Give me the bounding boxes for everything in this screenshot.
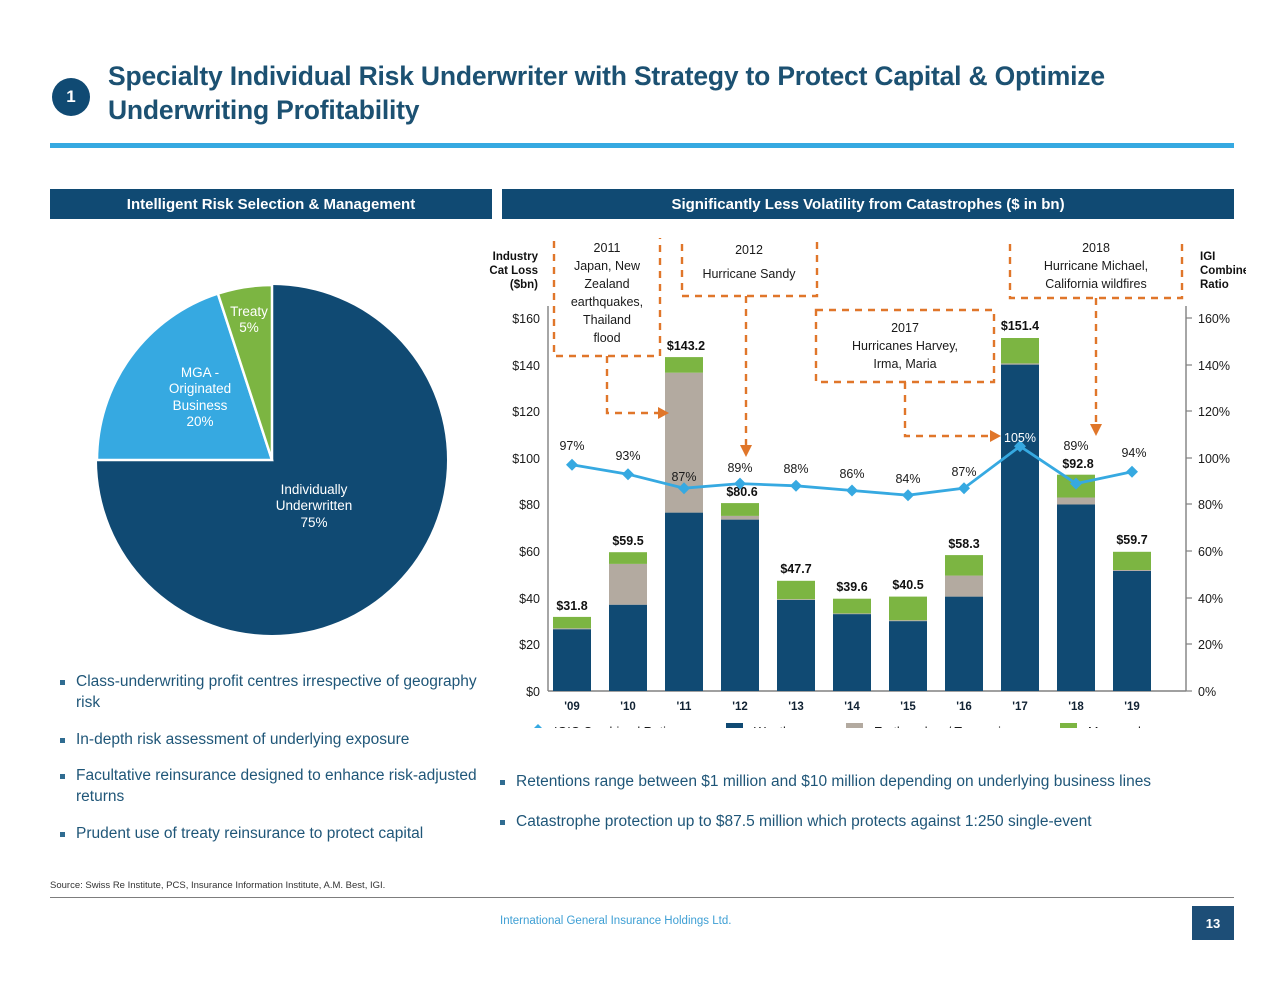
bullet-square-icon	[500, 820, 505, 825]
list-item-text: Class-underwriting profit centres irresp…	[76, 672, 490, 714]
svg-text:Hurricane Michael,: Hurricane Michael,	[1044, 259, 1148, 273]
svg-text:earthquakes,: earthquakes,	[571, 295, 643, 309]
legend-label-earthquakes[interactable]: Earthquakes / Tsunamis	[874, 725, 1007, 728]
bar-segment-earthquake	[945, 576, 983, 597]
svg-text:Irma, Maria: Irma, Maria	[873, 357, 936, 371]
bar-group-12	[721, 503, 759, 691]
y-axis-right-title-line1: IGI	[1200, 251, 1215, 263]
svg-text:80%: 80%	[1198, 498, 1223, 512]
bar-segment-manmade	[1113, 552, 1151, 570]
bar-group-11	[665, 357, 703, 691]
svg-text:0%: 0%	[1198, 685, 1216, 699]
annotation-2017-arrow	[990, 430, 1001, 442]
x-tick-09: '09	[564, 701, 580, 713]
ratio-label-14: 86%	[839, 467, 864, 481]
page-number: 13	[1192, 906, 1234, 940]
svg-text:120%: 120%	[1198, 405, 1230, 419]
page-title: Specialty Individual Risk Underwriter wi…	[108, 60, 1198, 128]
bar-total-label-17: $151.4	[1001, 319, 1039, 333]
bar-total-label-14: $39.6	[836, 580, 867, 594]
svg-text:$140: $140	[512, 359, 540, 373]
svg-text:20%: 20%	[1198, 638, 1223, 652]
bar-segment-earthquake	[1057, 498, 1095, 505]
bar-segment-manmade	[721, 503, 759, 516]
annotation-2012-arrow	[740, 445, 752, 457]
bar-total-label-19: $59.7	[1116, 533, 1147, 547]
bar-segment-weather	[945, 597, 983, 691]
bullet-square-icon	[60, 680, 65, 685]
business-mix-pie-chart: Treaty 5% MGA - Originated Business 20% …	[94, 282, 450, 638]
x-tick-10: '10	[620, 701, 636, 713]
bar-group-15	[889, 597, 927, 691]
bar-total-label-11: $143.2	[667, 339, 705, 353]
bar-segment-earthquake	[553, 628, 591, 629]
x-tick-18: '18	[1068, 701, 1084, 713]
bullet-square-icon	[60, 774, 65, 779]
bullet-square-icon	[60, 738, 65, 743]
svg-text:Hurricane Sandy: Hurricane Sandy	[702, 267, 796, 281]
ratio-label-15: 84%	[895, 472, 920, 486]
svg-text:$20: $20	[519, 638, 540, 652]
x-tick-17: '17	[1012, 701, 1028, 713]
legend-label-manmade[interactable]: Man-made	[1088, 725, 1148, 728]
bar-group-09	[553, 617, 591, 691]
bar-segment-manmade	[777, 581, 815, 599]
svg-text:$60: $60	[519, 545, 540, 559]
annotation-2011-leader	[607, 356, 658, 413]
ratio-label-19: 94%	[1121, 446, 1146, 460]
svg-text:flood: flood	[593, 331, 620, 345]
bar-segment-earthquake	[1001, 363, 1039, 364]
y-axis-right-title-line2: Combined	[1200, 265, 1246, 277]
bar-segment-manmade	[889, 597, 927, 621]
bar-segment-manmade	[553, 617, 591, 628]
y-axis-left-title-line3: ($bn)	[510, 279, 538, 291]
annotation-2017: 2017 Hurricanes Harvey, Irma, Maria	[816, 310, 1001, 442]
list-item: Retentions range between $1 million and …	[500, 772, 1230, 793]
bar-segment-weather	[833, 614, 871, 691]
ratio-label-09: 97%	[559, 439, 584, 453]
svg-text:$160: $160	[512, 312, 540, 326]
legend-swatch-weather[interactable]	[726, 723, 743, 728]
bar-segment-earthquake	[1113, 570, 1151, 571]
bar-total-label-13: $47.7	[780, 562, 811, 576]
bar-group-18	[1057, 475, 1095, 691]
bullet-square-icon	[500, 780, 505, 785]
list-item-text: Facultative reinsurance designed to enha…	[76, 766, 490, 808]
svg-text:$40: $40	[519, 592, 540, 606]
x-tick-11: '11	[677, 701, 692, 713]
section-header-left: Intelligent Risk Selection & Management	[50, 189, 492, 219]
bar-segment-earthquake	[609, 564, 647, 605]
bar-group-13	[777, 581, 815, 691]
svg-text:$0: $0	[526, 685, 540, 699]
bar-group-14	[833, 599, 871, 691]
svg-text:Zealand: Zealand	[584, 277, 629, 291]
y-axis-right-ticks: 160% 140% 120% 100% 80% 60% 40% 20% 0%	[1186, 312, 1230, 699]
svg-text:$100: $100	[512, 452, 540, 466]
bar-segment-weather	[553, 629, 591, 691]
list-item: In-depth risk assessment of underlying e…	[60, 730, 490, 751]
ratio-label-11: 87%	[671, 470, 696, 484]
bar-segment-weather	[1001, 365, 1039, 691]
bar-total-label-15: $40.5	[892, 578, 923, 592]
svg-text:California wildfires: California wildfires	[1045, 277, 1146, 291]
ratio-label-10: 93%	[615, 449, 640, 463]
bar-segment-weather	[609, 605, 647, 691]
bar-segment-manmade	[665, 357, 703, 373]
svg-text:40%: 40%	[1198, 592, 1223, 606]
bar-group-10	[609, 552, 647, 691]
bar-group-16	[945, 555, 983, 691]
ratio-label-17: 105%	[1004, 431, 1036, 445]
bar-segment-weather	[665, 513, 703, 691]
list-item: Facultative reinsurance designed to enha…	[60, 766, 490, 808]
footer-company-name: International General Insurance Holdings…	[500, 915, 731, 927]
list-item-text: Catastrophe protection up to $87.5 milli…	[516, 812, 1092, 833]
svg-text:2017: 2017	[891, 321, 919, 335]
bar-total-label-10: $59.5	[612, 534, 643, 548]
chart-legend: IGIC Combined Ratio Weather Earthquakes …	[531, 723, 1148, 728]
right-bullet-list: Retentions range between $1 million and …	[500, 772, 1230, 852]
svg-text:2018: 2018	[1082, 241, 1110, 255]
x-tick-12: '12	[732, 701, 748, 713]
header-divider	[50, 143, 1234, 148]
bar-segment-weather	[1057, 505, 1095, 692]
list-item-text: Prudent use of treaty reinsurance to pro…	[76, 824, 423, 845]
left-bullet-list: Class-underwriting profit centres irresp…	[60, 672, 490, 861]
bar-segment-earthquake	[721, 516, 759, 520]
bar-segment-manmade	[833, 599, 871, 614]
catastrophe-loss-chart: Industry Cat Loss ($bn) IGI Combined Rat…	[486, 238, 1246, 728]
list-item-text: In-depth risk assessment of underlying e…	[76, 730, 409, 751]
bar-segment-manmade	[1001, 338, 1039, 363]
legend-swatch-earthquakes[interactable]	[846, 723, 863, 728]
svg-text:$120: $120	[512, 405, 540, 419]
slide: 1 Specialty Individual Risk Underwriter …	[0, 0, 1280, 989]
list-item-text: Retentions range between $1 million and …	[516, 772, 1151, 793]
svg-text:100%: 100%	[1198, 452, 1230, 466]
bar-group-17	[1001, 338, 1039, 691]
legend-marker-combined-ratio[interactable]	[531, 724, 545, 728]
svg-text:140%: 140%	[1198, 359, 1230, 373]
source-note: Source: Swiss Re Institute, PCS, Insuran…	[50, 880, 385, 891]
section-header-right: Significantly Less Volatility from Catas…	[502, 189, 1234, 219]
pie-label-mga-originated: MGA - Originated Business 20%	[150, 365, 250, 431]
x-tick-13: '13	[788, 701, 804, 713]
legend-swatch-manmade[interactable]	[1060, 723, 1077, 728]
x-tick-16: '16	[956, 701, 972, 713]
list-item: Class-underwriting profit centres irresp…	[60, 672, 490, 714]
bar-segment-earthquake	[777, 599, 815, 600]
bar-segment-weather	[1113, 571, 1151, 691]
svg-text:Thailand: Thailand	[583, 313, 631, 327]
ratio-label-13: 88%	[783, 462, 808, 476]
bar-total-label-16: $58.3	[948, 537, 979, 551]
y-axis-left-title-line1: Industry	[493, 251, 539, 263]
annotation-2017-leader	[905, 382, 990, 436]
ratio-label-16: 87%	[951, 465, 976, 479]
svg-text:Hurricanes Harvey,: Hurricanes Harvey,	[852, 339, 958, 353]
x-tick-19: '19	[1124, 701, 1140, 713]
bar-segment-weather	[777, 600, 815, 691]
y-axis-left-title-line2: Cat Loss	[489, 265, 538, 277]
svg-text:60%: 60%	[1198, 545, 1223, 559]
bar-segment-weather	[889, 621, 927, 691]
pie-label-individually-underwritten: Individually Underwritten 75%	[244, 482, 384, 531]
x-tick-14: '14	[844, 701, 860, 713]
bar-group-19	[1113, 552, 1151, 691]
bullet-square-icon	[60, 832, 65, 837]
catastrophe-chart-svg: Industry Cat Loss ($bn) IGI Combined Rat…	[486, 238, 1246, 728]
y-axis-right-title-line3: Ratio	[1200, 279, 1229, 291]
legend-label-weather[interactable]: Weather	[754, 725, 801, 728]
bar-total-label-09: $31.8	[556, 599, 587, 613]
svg-text:Japan, New: Japan, New	[574, 259, 641, 273]
slide-number-badge: 1	[52, 78, 90, 116]
bar-segment-earthquake	[889, 620, 927, 621]
svg-text:2012: 2012	[735, 243, 763, 257]
bar-segment-manmade	[945, 555, 983, 576]
bar-total-label-18: $92.8	[1062, 457, 1093, 471]
y-axis-left-ticks: $160 $140 $120 $100 $80 $60 $40 $20 $0	[512, 312, 540, 699]
list-item: Prudent use of treaty reinsurance to pro…	[60, 824, 490, 845]
svg-text:160%: 160%	[1198, 312, 1230, 326]
bar-segment-earthquake	[833, 613, 871, 614]
legend-label-combined-ratio[interactable]: IGIC Combined Ratio	[554, 725, 673, 728]
bar-segment-manmade	[609, 552, 647, 564]
footer-divider	[50, 897, 1234, 898]
annotation-2018-arrow	[1090, 424, 1102, 436]
svg-text:2011: 2011	[594, 241, 621, 255]
ratio-label-12: 89%	[727, 461, 752, 475]
x-tick-15: '15	[900, 701, 916, 713]
ratio-label-18: 89%	[1063, 439, 1088, 453]
bar-segment-weather	[721, 520, 759, 691]
list-item: Catastrophe protection up to $87.5 milli…	[500, 812, 1230, 833]
annotation-2011: 2011 Japan, New Zealand earthquakes, Tha…	[554, 238, 669, 419]
svg-text:$80: $80	[519, 498, 540, 512]
pie-label-treaty: Treaty 5%	[214, 304, 284, 337]
